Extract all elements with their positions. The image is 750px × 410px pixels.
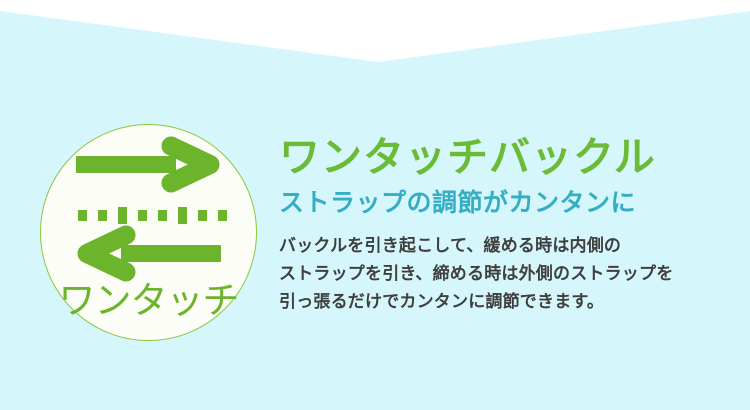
dashed-line-icon — [78, 207, 227, 224]
body-copy-line: バックルを引き起こして、緩める時は内側の — [279, 232, 734, 260]
subheadline: ストラップの調節がカンタンに — [279, 186, 734, 220]
headline: ワンタッチバックル — [279, 132, 734, 182]
one-touch-badge: ワンタッチ — [40, 124, 257, 341]
copy-block: ワンタッチバックル ストラップの調節がカンタンに バックルを引き起こして、緩める… — [279, 132, 734, 316]
body-copy: バックルを引き起こして、緩める時は内側の ストラップを引き、締める時は外側のスト… — [279, 232, 734, 316]
body-copy-line: 引っ張るだけでカンタンに調節できます。 — [279, 288, 734, 316]
top-chevron-decoration — [0, 0, 750, 70]
badge-label: ワンタッチ — [40, 279, 257, 323]
arrow-right-icon — [76, 146, 210, 183]
body-copy-line: ストラップを引き、締める時は外側のストラップを — [279, 260, 734, 288]
promo-banner: ワンタッチ ワンタッチバックル ストラップの調節がカンタンに バックルを引き起こ… — [0, 0, 750, 410]
arrow-left-icon — [87, 235, 221, 272]
